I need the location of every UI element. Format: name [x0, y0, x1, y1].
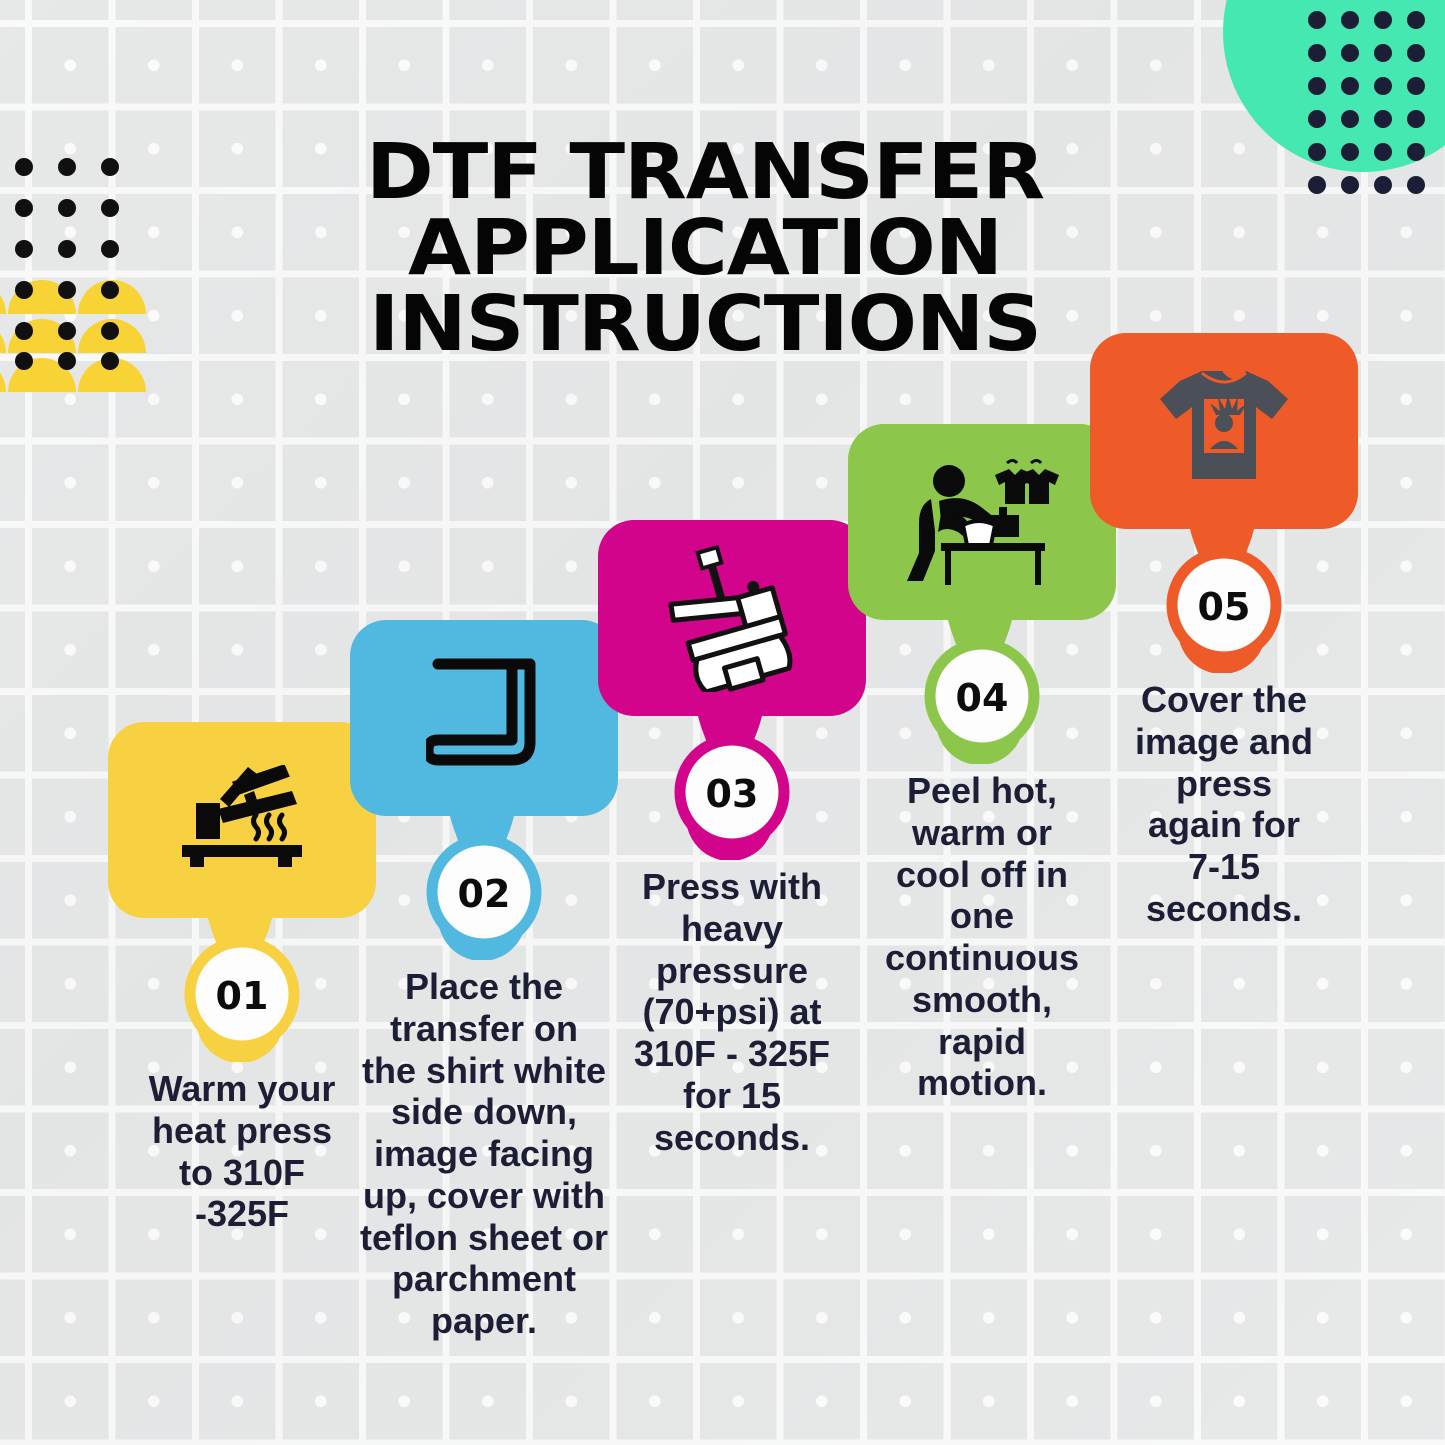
- step-number-05: 05: [1090, 585, 1358, 629]
- step-number-01: 01: [108, 974, 376, 1018]
- step-graphic-03: 03: [598, 520, 866, 860]
- step-graphic-04: 04: [848, 424, 1116, 764]
- step-graphic-05: 05: [1090, 333, 1358, 673]
- step-text-02: Place the transfer on the shirt white si…: [350, 966, 618, 1342]
- step-number-02: 02: [350, 872, 618, 916]
- step-card-05[interactable]: 05 Cover the image and press again for 7…: [1090, 333, 1358, 930]
- step-card-03[interactable]: 03 Press with heavy pressure (70+psi) at…: [598, 520, 866, 1158]
- step-card-04[interactable]: 04 Peel hot, warm or cool off in one con…: [848, 424, 1116, 1104]
- step-text-05: Cover the image and press again for 7-15…: [1090, 679, 1358, 930]
- step-graphic-02: 02: [350, 620, 618, 960]
- step-card-02[interactable]: 02 Place the transfer on the shirt white…: [350, 620, 618, 1342]
- step-number-03: 03: [598, 772, 866, 816]
- step-text-04: Peel hot, warm or cool off in one contin…: [848, 770, 1116, 1104]
- steps-container: 01 Warm your heat press to 310F -325F 02…: [0, 0, 1445, 1445]
- step-number-04: 04: [848, 676, 1116, 720]
- step-graphic-01: 01: [108, 722, 376, 1062]
- step-text-03: Press with heavy pressure (70+psi) at 31…: [598, 866, 866, 1158]
- step-text-01: Warm your heat press to 310F -325F: [108, 1068, 376, 1235]
- step-card-01[interactable]: 01 Warm your heat press to 310F -325F: [108, 722, 376, 1235]
